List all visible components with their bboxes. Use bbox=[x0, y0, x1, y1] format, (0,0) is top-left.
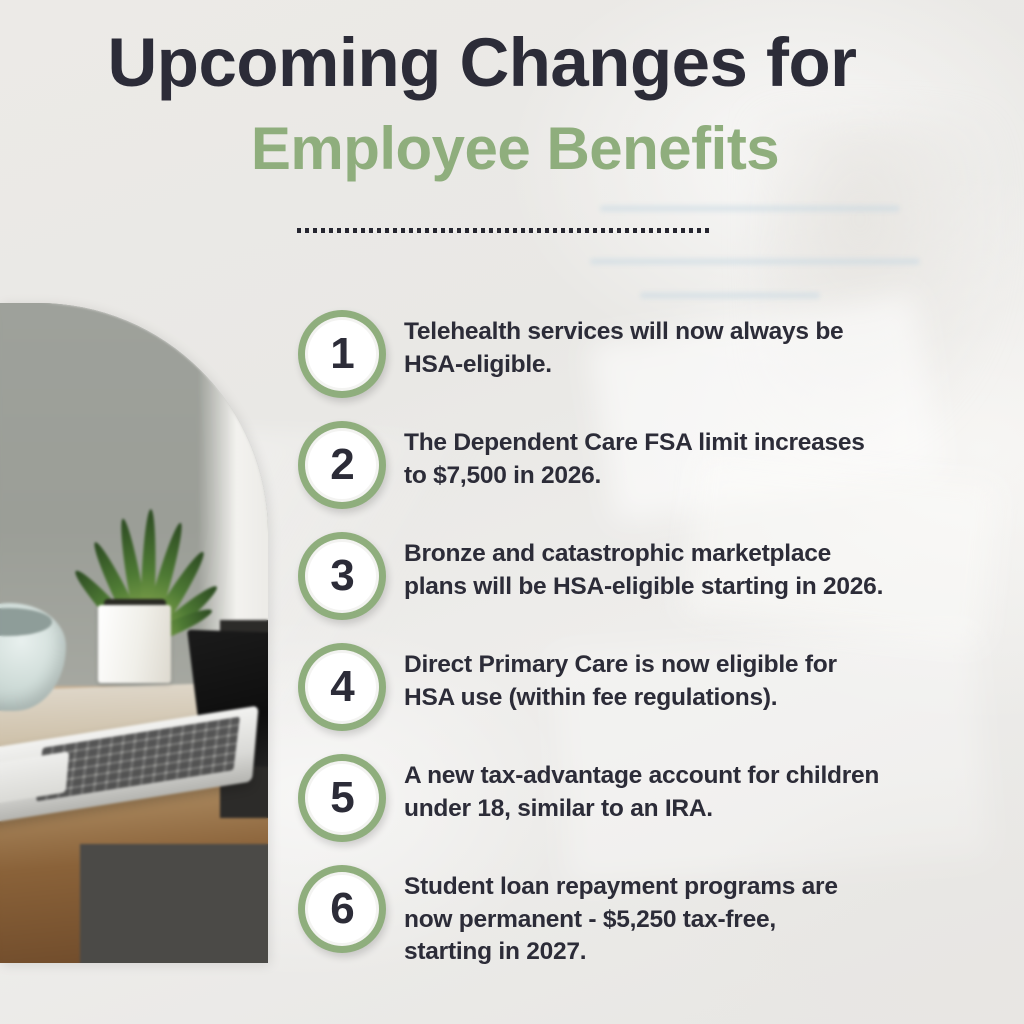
number-badge: 4 bbox=[298, 643, 386, 731]
number-badge: 6 bbox=[298, 865, 386, 953]
list-item-text: The Dependent Care FSA limit increases t… bbox=[404, 421, 998, 492]
list-item-text: A new tax-advantage account for children… bbox=[404, 754, 998, 825]
number-badge: 1 bbox=[298, 310, 386, 398]
plant-pot bbox=[98, 605, 171, 683]
list-item-text: Direct Primary Care is now eligible for … bbox=[404, 643, 998, 714]
benefits-list: 1 Telehealth services will now always be… bbox=[298, 310, 998, 992]
list-item: 1 Telehealth services will now always be… bbox=[298, 310, 998, 398]
list-item-text: Telehealth services will now always be H… bbox=[404, 310, 998, 381]
number-badge: 2 bbox=[298, 421, 386, 509]
number-badge: 5 bbox=[298, 754, 386, 842]
number-badge: 3 bbox=[298, 532, 386, 620]
background-accent-line-3 bbox=[640, 292, 820, 299]
list-item: 4 Direct Primary Care is now eligible fo… bbox=[298, 643, 998, 731]
title-line-accent: Employee Benefits bbox=[6, 119, 1024, 179]
badge-number: 1 bbox=[330, 332, 353, 376]
list-item: 3 Bronze and catastrophic marketplace pl… bbox=[298, 532, 998, 620]
badge-number: 6 bbox=[330, 887, 353, 931]
badge-number: 3 bbox=[330, 554, 353, 598]
list-item-text: Bronze and catastrophic marketplace plan… bbox=[404, 532, 998, 603]
badge-number: 2 bbox=[330, 443, 353, 487]
list-item: 6 Student loan repayment programs are no… bbox=[298, 865, 998, 969]
badge-number: 5 bbox=[330, 776, 353, 820]
desk-photo bbox=[0, 303, 268, 963]
photo-desk-shadow bbox=[80, 844, 268, 963]
page-title: Upcoming Changes for Employee Benefits bbox=[0, 28, 1024, 179]
background-accent-line-2 bbox=[590, 258, 920, 265]
background-accent-line-1 bbox=[600, 205, 900, 212]
title-line-primary: Upcoming Changes for bbox=[0, 28, 1024, 97]
list-item-text: Student loan repayment programs are now … bbox=[404, 865, 998, 969]
list-item: 5 A new tax-advantage account for childr… bbox=[298, 754, 998, 842]
infographic-poster: Upcoming Changes for Employee Benefits bbox=[0, 0, 1024, 1024]
list-item: 2 The Dependent Care FSA limit increases… bbox=[298, 421, 998, 509]
badge-number: 4 bbox=[330, 665, 353, 709]
dotted-divider bbox=[297, 228, 713, 233]
